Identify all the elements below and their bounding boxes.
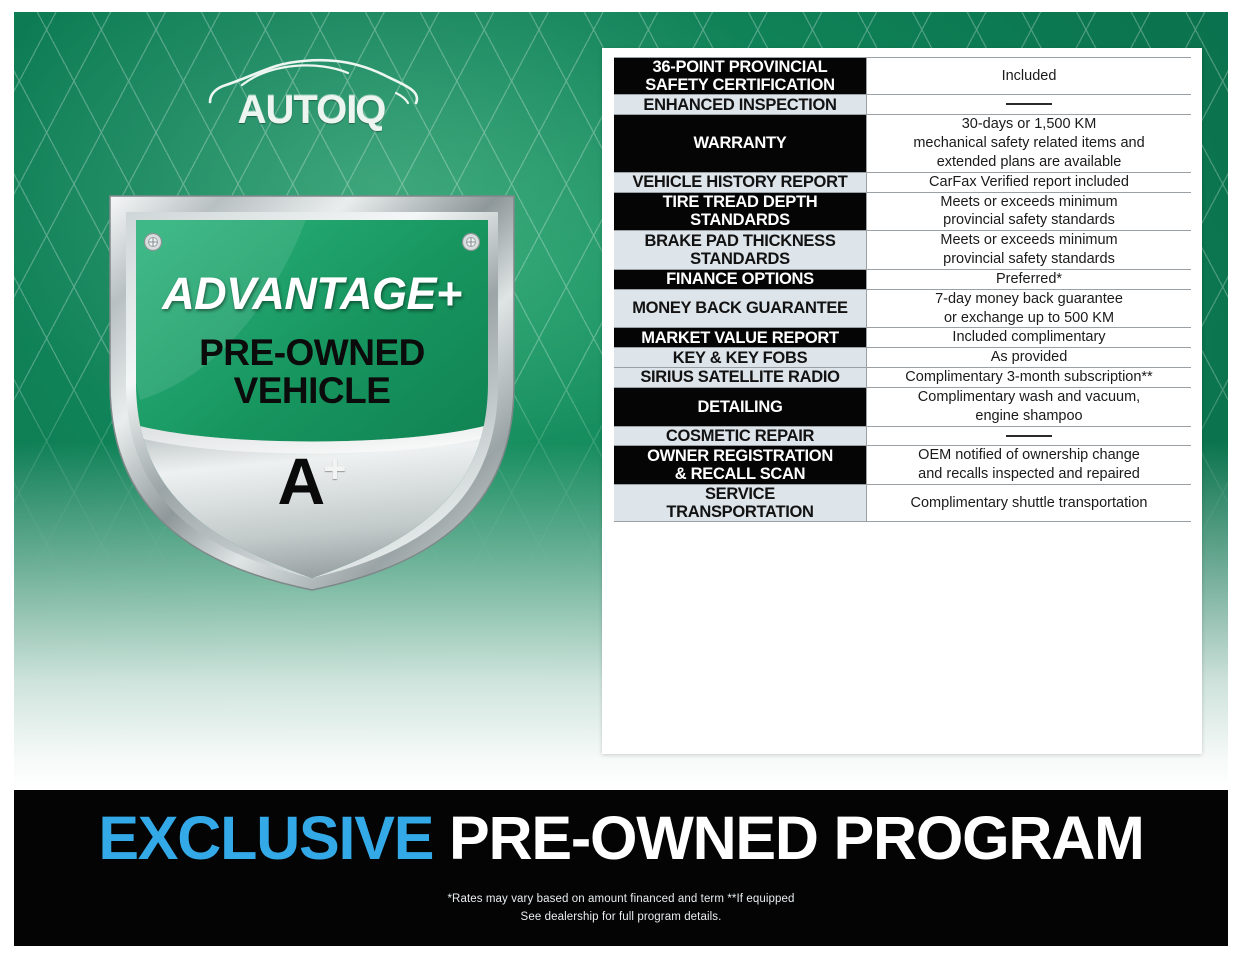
screw-right (463, 234, 480, 251)
feature-value: Meets or exceeds minimumprovincial safet… (867, 192, 1192, 231)
feature-label: TIRE TREAD DEPTHSTANDARDS (614, 192, 867, 231)
table-row: MARKET VALUE REPORTIncluded complimentar… (614, 328, 1191, 348)
feature-value: 30-days or 1,500 KMmechanical safety rel… (867, 115, 1192, 173)
bottom-banner: EXCLUSIVE PRE-OWNED PROGRAM *Rates may v… (14, 790, 1228, 946)
program-features-card: 36-POINT PROVINCIALSAFETY CERTIFICATIONI… (602, 48, 1202, 754)
shield-graphic (96, 186, 528, 598)
table-row: VEHICLE HISTORY REPORTCarFax Verified re… (614, 172, 1191, 192)
feature-label: ENHANCED INSPECTION (614, 95, 867, 115)
table-row: DETAILINGComplimentary wash and vacuum,e… (614, 387, 1191, 426)
feature-label: VEHICLE HISTORY REPORT (614, 172, 867, 192)
feature-value: Complimentary shuttle transportation (867, 485, 1192, 522)
feature-label: SIRIUS SATELLITE RADIO (614, 368, 867, 388)
table-row: OWNER REGISTRATION& RECALL SCANOEM notif… (614, 446, 1191, 485)
feature-label: KEY & KEY FOBS (614, 348, 867, 368)
feature-value: As provided (867, 348, 1192, 368)
feature-label: MARKET VALUE REPORT (614, 328, 867, 348)
feature-value: Preferred* (867, 269, 1192, 289)
em-dash-placeholder (1006, 103, 1052, 105)
feature-value: OEM notified of ownership changeand reca… (867, 446, 1192, 485)
feature-label: BRAKE PAD THICKNESSSTANDARDS (614, 231, 867, 270)
table-row: BRAKE PAD THICKNESSSTANDARDSMeets or exc… (614, 231, 1191, 270)
feature-label: WARRANTY (614, 115, 867, 173)
table-row: 36-POINT PROVINCIALSAFETY CERTIFICATIONI… (614, 58, 1191, 95)
feature-value: Included complimentary (867, 328, 1192, 348)
table-row: KEY & KEY FOBSAs provided (614, 348, 1191, 368)
feature-label: DETAILING (614, 387, 867, 426)
feature-value: CarFax Verified report included (867, 172, 1192, 192)
feature-label: SERVICETRANSPORTATION (614, 485, 867, 522)
autoiq-word-iq: IQ (346, 88, 384, 132)
table-row: SERVICETRANSPORTATIONComplimentary shutt… (614, 485, 1191, 522)
feature-value: Complimentary 3-month subscription** (867, 368, 1192, 388)
banner-headline-rest: PRE-OWNED PROGRAM (449, 804, 1144, 872)
feature-value: Meets or exceeds minimumprovincial safet… (867, 231, 1192, 270)
table-row: MONEY BACK GUARANTEE7-day money back gua… (614, 289, 1191, 328)
table-row: FINANCE OPTIONSPreferred* (614, 269, 1191, 289)
feature-label: FINANCE OPTIONS (614, 269, 867, 289)
program-features-table: 36-POINT PROVINCIALSAFETY CERTIFICATIONI… (614, 57, 1191, 522)
table-row: SIRIUS SATELLITE RADIOComplimentary 3-mo… (614, 368, 1191, 388)
banner-headline: EXCLUSIVE PRE-OWNED PROGRAM (14, 808, 1228, 869)
table-row: ENHANCED INSPECTION (614, 95, 1191, 115)
feature-value: Complimentary wash and vacuum,engine sha… (867, 387, 1192, 426)
table-row: COSMETIC REPAIR (614, 426, 1191, 446)
feature-label: 36-POINT PROVINCIALSAFETY CERTIFICATION (614, 58, 867, 95)
feature-label: OWNER REGISTRATION& RECALL SCAN (614, 446, 867, 485)
feature-value (867, 95, 1192, 115)
feature-value (867, 426, 1192, 446)
table-row: TIRE TREAD DEPTHSTANDARDSMeets or exceed… (614, 192, 1191, 231)
em-dash-placeholder (1006, 435, 1052, 437)
footnote-line-2: See dealership for full program details. (14, 911, 1228, 923)
advantage-plus-shield-badge: ADVANTAGE+ PRE-OWNED VEHICLE A+ (96, 186, 528, 598)
autoiq-word-auto: AUTO (238, 88, 347, 132)
advantage-plus-poster: AUTOIQ (0, 0, 1242, 960)
program-features-table-body: 36-POINT PROVINCIALSAFETY CERTIFICATIONI… (614, 58, 1191, 522)
feature-label: MONEY BACK GUARANTEE (614, 289, 867, 328)
screw-left (145, 234, 162, 251)
feature-label: COSMETIC REPAIR (614, 426, 867, 446)
feature-value: 7-day money back guaranteeor exchange up… (867, 289, 1192, 328)
footnote-line-1: *Rates may vary based on amount financed… (14, 893, 1228, 905)
autoiq-logo: AUTOIQ (196, 52, 426, 154)
table-row: WARRANTY30-days or 1,500 KMmechanical sa… (614, 115, 1191, 173)
banner-headline-highlight: EXCLUSIVE (98, 804, 433, 872)
autoiq-wordmark: AUTOIQ (196, 90, 426, 130)
feature-value: Included (867, 58, 1192, 95)
